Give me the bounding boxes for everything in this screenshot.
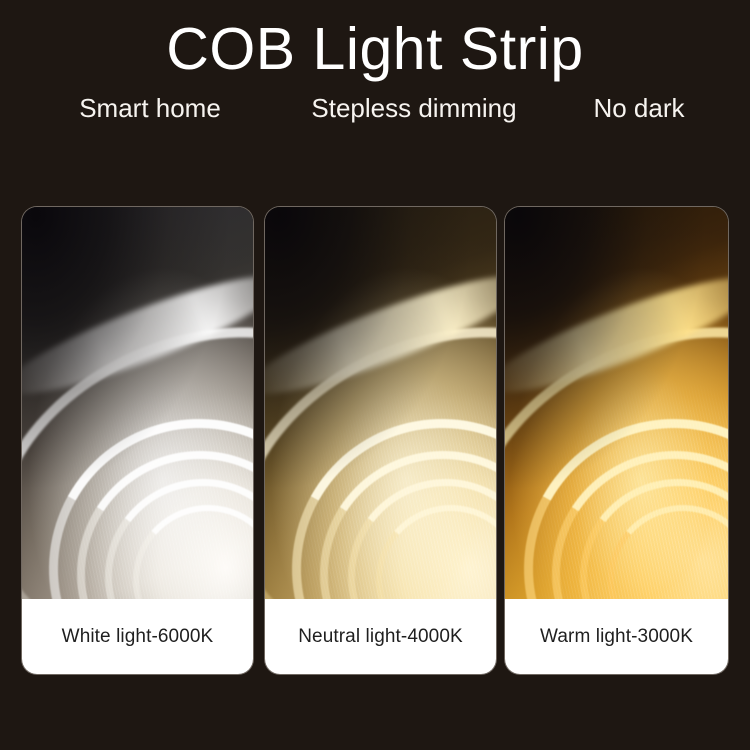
product-panel-list: White light-6000K Neutral light-4000K	[0, 207, 750, 674]
caption-text: Neutral light-4000K	[298, 626, 463, 648]
photo-vignette	[505, 207, 728, 599]
panel-caption-warm-3000k: Warm light-3000K	[505, 599, 728, 674]
product-photo-neutral-4000k	[265, 207, 496, 599]
product-panel-white-6000k[interactable]: White light-6000K	[22, 207, 253, 674]
feature-smart-home: Smart home	[79, 93, 221, 124]
product-photo-white-6000k	[22, 207, 253, 599]
page-title: COB Light Strip	[0, 18, 750, 82]
product-panel-neutral-4000k[interactable]: Neutral light-4000K	[265, 207, 496, 674]
feature-stepless-dimming: Stepless dimming	[311, 93, 516, 124]
feature-no-dark: No dark	[593, 93, 684, 124]
caption-text: White light-6000K	[62, 626, 214, 648]
product-panel-warm-3000k[interactable]: Warm light-3000K	[505, 207, 728, 674]
panel-caption-white-6000k: White light-6000K	[22, 599, 253, 674]
photo-vignette	[22, 207, 253, 599]
caption-text: Warm light-3000K	[540, 626, 693, 648]
panel-caption-neutral-4000k: Neutral light-4000K	[265, 599, 496, 674]
photo-vignette	[265, 207, 496, 599]
header: COB Light Strip Smart home Stepless dimm…	[0, 0, 750, 141]
feature-list: Smart home Stepless dimming No dark	[0, 93, 750, 141]
product-photo-warm-3000k	[505, 207, 728, 599]
